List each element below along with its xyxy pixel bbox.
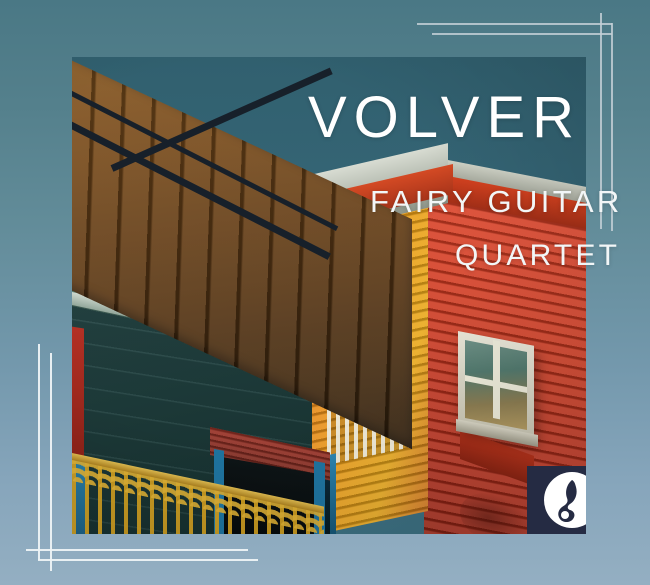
ensemble-name: QUARTET: [455, 241, 620, 271]
violin-scroll-icon: [556, 480, 582, 524]
bracket-bottom-left-hline-outer: [26, 549, 248, 551]
bracket-bottom-left-vline-inner: [50, 353, 52, 571]
bracket-bottom-left-hline-inner: [38, 559, 258, 561]
bracket-top-right-hline-outer: [417, 23, 612, 25]
bracket-top-right-hline-inner: [432, 33, 612, 35]
label-wordmark: stradivarius: [527, 466, 529, 532]
bracket-bottom-left-vline-outer: [38, 344, 40, 560]
record-label-logo: stradivarius: [527, 466, 586, 534]
album-cover: VOLVER FAIRY GUITAR QUARTET stradivarius: [0, 0, 650, 585]
performer-name: FAIRY GUITAR: [370, 186, 623, 217]
photo-left-building-red-edge: [72, 325, 84, 458]
album-title: VOLVER: [308, 89, 581, 147]
